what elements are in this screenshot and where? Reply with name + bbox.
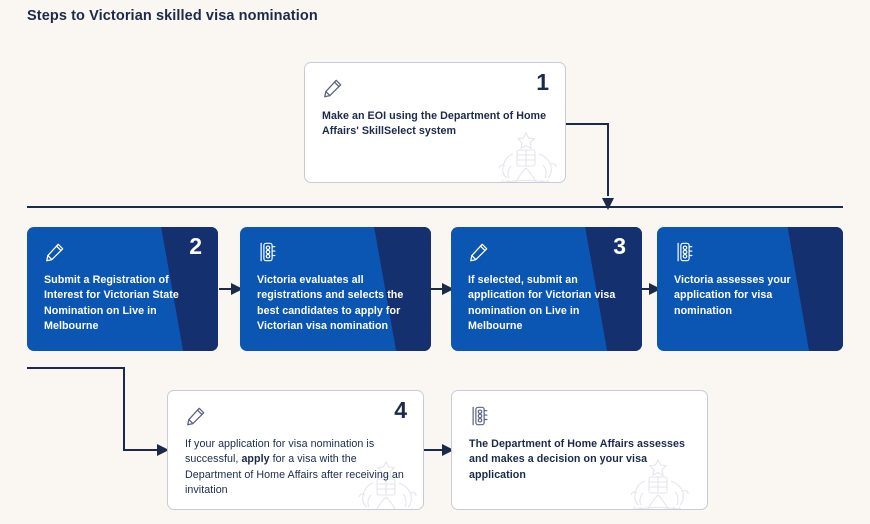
traffic-light-icon [469, 405, 491, 427]
pencil-icon [185, 405, 207, 427]
connector-row3-rail [27, 368, 158, 450]
connector-card1-to-row2 [566, 124, 608, 196]
pencil-icon [322, 77, 344, 99]
card-text-regular: If selected, submit an application for V… [468, 274, 615, 332]
step-number: 4 [394, 399, 407, 422]
card-text: Submit a Registration of Interest for Vi… [44, 273, 202, 334]
card-text: If your application for visa nomination … [185, 437, 407, 498]
pencil-icon [468, 241, 490, 263]
flowchart-diagram: Steps to Victorian skilled visa nominati… [0, 0, 870, 524]
card-home-affairs-decision[interactable]: The Department of Home Affairs assesses … [451, 390, 708, 510]
card-text: Victoria evaluates all registrations and… [257, 273, 415, 334]
pencil-icon [44, 241, 66, 263]
arrowhead-down-row2 [602, 198, 614, 210]
card-text: Victoria assesses your application for v… [674, 273, 827, 319]
card-step-2[interactable]: 2 Submit a Registration of Interest for … [27, 227, 218, 351]
traffic-light-icon [674, 241, 696, 263]
card-text-regular: Victoria evaluates all registrations and… [257, 274, 403, 332]
card-step-1[interactable]: 1 Make an EOI using the Department of Ho… [304, 62, 566, 183]
step-number: 1 [536, 71, 549, 94]
step-number: 2 [189, 235, 202, 258]
card-text-bold: apply [241, 453, 269, 465]
card-step-4[interactable]: 4 If your application for visa nominatio… [167, 390, 424, 510]
card-text-regular: SkillSelect system [359, 125, 456, 137]
card-text-regular: The Department of Home Affairs assesses … [469, 438, 685, 481]
card-step-3[interactable]: 3 If selected, submit an application for… [451, 227, 642, 351]
card-text: Make an EOI using the Department of Home… [322, 109, 549, 140]
card-text-regular: Victoria assesses your application for v… [674, 274, 791, 317]
card-victoria-evaluates[interactable]: Victoria evaluates all registrations and… [240, 227, 431, 351]
step-number: 3 [613, 235, 626, 258]
traffic-light-icon [257, 241, 279, 263]
card-victoria-assesses[interactable]: Victoria assesses your application for v… [657, 227, 843, 351]
card-text-bold: Submit [44, 274, 81, 286]
card-text: The Department of Home Affairs assesses … [469, 437, 691, 483]
card-text: If selected, submit an application for V… [468, 273, 626, 334]
